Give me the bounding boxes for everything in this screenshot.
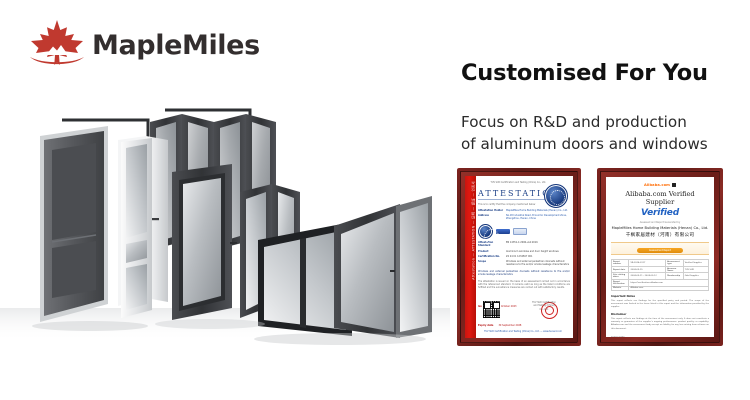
cell-key: Website	[612, 286, 629, 291]
company-name-en: MapleMiles Home Building Materials (Hena…	[611, 226, 709, 231]
section-title-disclaimer: Disclaimer	[611, 313, 709, 316]
certificate-side-band: Attestation — ATTESTATION — 证明 — 認証 — 인증…	[465, 176, 476, 338]
brand-logo[interactable]: MapleMiles	[28, 18, 260, 72]
alibaba-logo-row: Alibaba.com	[611, 183, 709, 187]
page-subtitle: Focus on R&D and production of aluminum …	[461, 112, 708, 155]
cell-value: https://verification.alibaba.com	[629, 279, 709, 286]
signatory-block: TUV SUD Certificationand Testing (China)…	[522, 301, 566, 311]
section-body-important-notes: This report reflects our findings for th…	[611, 300, 709, 310]
cell-key: Assessor Name	[666, 266, 683, 273]
cell-key: Report Verification	[612, 279, 629, 286]
cell-value: 2024-03-11 - 2024-03-12	[629, 273, 666, 280]
certificate-title: Alibaba.com Verified Supplier	[611, 190, 709, 206]
tuv-blue-seal-icon	[544, 184, 568, 208]
field-label: Certification No.	[478, 255, 504, 258]
alibaba-badge-icon	[672, 183, 676, 186]
cell-value: TUV SUD	[683, 266, 708, 273]
table-row: Report number VR-2024-0117 Assessment ty…	[612, 260, 709, 267]
certificate-footer: TUV SUD Certification and Testing (China…	[478, 330, 568, 333]
subtitle-line-2: of aluminum doors and windows	[461, 134, 708, 156]
section-body-disclaimer: This report reflects our findings at the…	[611, 318, 709, 331]
field-value: Windows and external pedestrian doorsets…	[506, 260, 570, 266]
expiry-date-label: Expiry date	[478, 324, 493, 327]
certificate-paper: Alibaba.com Alibaba.com Verified Supplie…	[606, 177, 714, 337]
table-row: Report date 2024-03-15 Assessor Name TUV…	[612, 266, 709, 273]
ukca-mark-icon	[513, 228, 527, 235]
section-title-important-notes: Important Notes	[611, 295, 709, 298]
attestation-certificate[interactable]: Attestation — ATTESTATION — 证明 — 認証 — 인증…	[457, 168, 581, 346]
verified-wordmark: Verified	[611, 208, 709, 218]
brand-name: MapleMiles	[92, 32, 260, 59]
cell-key: Report number	[612, 260, 629, 267]
cell-value: Verified Supplier	[683, 260, 708, 267]
signature-label: Approved by	[611, 336, 709, 337]
field-label: Product	[478, 250, 504, 253]
cell-key: Membership	[666, 273, 683, 280]
alibaba-verified-supplier-certificate[interactable]: Alibaba.com Alibaba.com Verified Supplie…	[597, 168, 723, 346]
field-value: Aluminium windows and door height window…	[506, 250, 570, 253]
cell-key: Report date	[612, 266, 629, 273]
field-value: EN 14351-1:2006+A2:2016	[506, 241, 570, 247]
certificate-legal-note-1: Windows and external pedestrian doorsets…	[478, 270, 570, 277]
standard-mark-icon	[478, 224, 493, 239]
field-label: Attestation Holder	[478, 209, 504, 212]
alibaba-logo-icon: Alibaba.com	[644, 183, 670, 187]
assessment-report-badge: Assessment Report	[637, 248, 683, 253]
field-label: Address	[478, 214, 504, 220]
table-row: Website Alibaba.com	[612, 286, 709, 291]
maple-leaf-icon	[28, 18, 86, 72]
cell-key: Assessment type	[666, 260, 683, 267]
certificate-legal-note-2: The attestation is issued on the basis o…	[478, 280, 570, 290]
field-label: Scope	[478, 260, 504, 266]
side-band-text: Attestation — ATTESTATION — 证明 — 認証 — 인증…	[471, 176, 476, 287]
assessment-note: Assessed and Report Generated by	[611, 221, 709, 224]
certificate-paper: Attestation — ATTESTATION — 证明 — 認証 — 인증…	[465, 176, 573, 338]
page-title: Customised For You	[461, 60, 708, 86]
expiry-date-value: 30 September 2028	[498, 324, 521, 327]
cell-value: Gold Supplier	[683, 273, 708, 280]
table-row: Report Verification https://verification…	[612, 279, 709, 286]
field-value: No.18 Industrial Road, Economic Developm…	[506, 214, 570, 220]
company-name-cn: 千枫家居建材（河南）有限公司	[611, 232, 709, 238]
field-value: Z2 24 01 1234567 001	[506, 255, 570, 258]
cell-key: Site visiting dates	[612, 273, 629, 280]
promo-banner: MapleMiles Customised For You Focus on R…	[0, 0, 750, 400]
cell-value: Alibaba.com	[629, 286, 709, 291]
cell-value: VR-2024-0117	[629, 260, 666, 267]
qr-code-icon	[482, 300, 501, 319]
product-showcase-image	[0, 92, 450, 352]
field-value: MapleMiles Home Building Materials (Hena…	[506, 209, 570, 212]
assessment-report-banner: Assessment Report	[611, 242, 709, 255]
cell-value: 2024-03-15	[629, 266, 666, 273]
table-row: Site visiting dates 2024-03-11 - 2024-03…	[612, 273, 709, 280]
subtitle-line-1: Focus on R&D and production	[461, 112, 708, 134]
report-details-table: Report number VR-2024-0117 Assessment ty…	[611, 259, 709, 291]
